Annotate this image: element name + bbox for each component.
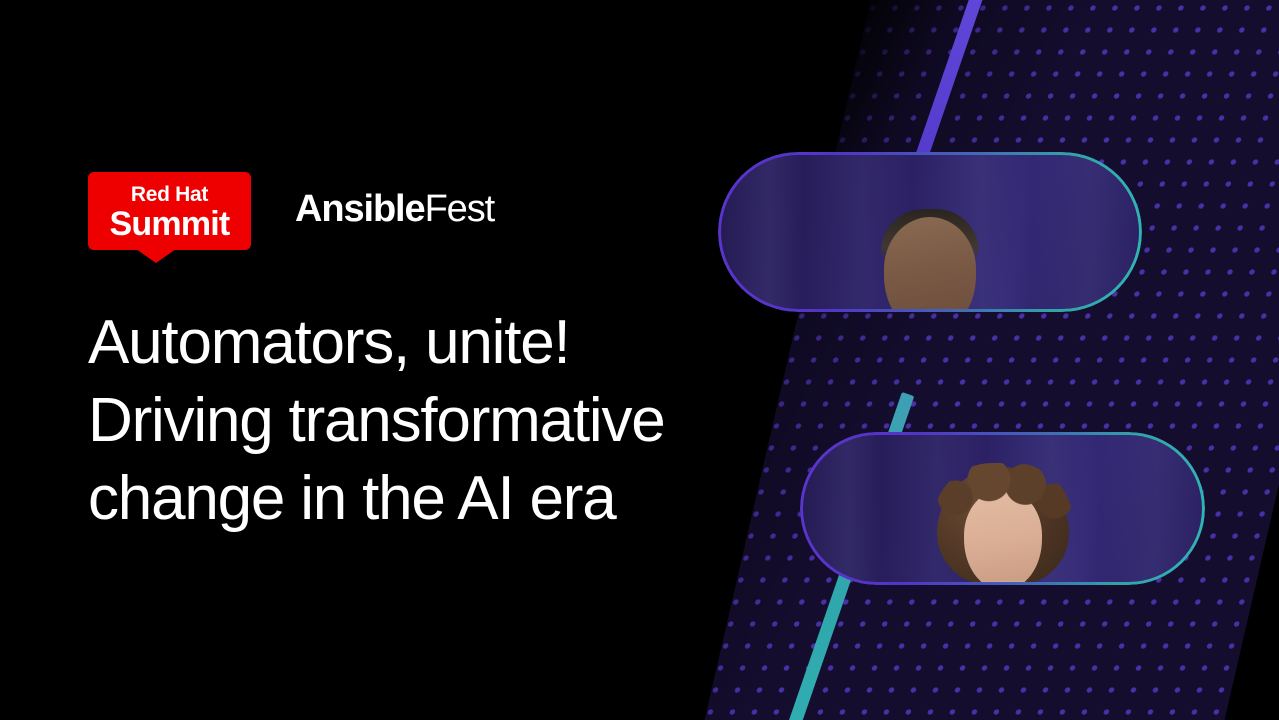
speaker-bottom-image <box>800 432 1205 585</box>
ansiblefest-wordmark: AnsibleFest <box>295 190 494 228</box>
speaker-photo-top <box>718 152 1142 312</box>
ansiblefest-wordmark-light: Fest <box>425 188 495 230</box>
red-hat-summit-logo-line1: Red Hat <box>131 184 208 205</box>
logo-lockup: Red Hat Summit AnsibleFest <box>88 172 494 250</box>
speaker-top-image <box>718 152 1142 312</box>
red-hat-summit-logo: Red Hat Summit <box>88 172 251 250</box>
dot-grid-fade <box>691 0 1279 720</box>
speaker-bottom-neck <box>981 581 1025 585</box>
speaker-top-head <box>884 217 976 312</box>
page-title: Automators, unite! Driving transformativ… <box>88 304 748 538</box>
speaker-photo-bottom <box>800 432 1205 585</box>
presentation-slide: Red Hat Summit AnsibleFest Automators, u… <box>0 0 1279 720</box>
red-hat-summit-logo-line2: Summit <box>110 207 230 241</box>
dot-grid-panel <box>691 0 1279 720</box>
slide-content: Red Hat Summit AnsibleFest Automators, u… <box>88 0 748 720</box>
ansiblefest-wordmark-bold: Ansible <box>295 188 425 230</box>
